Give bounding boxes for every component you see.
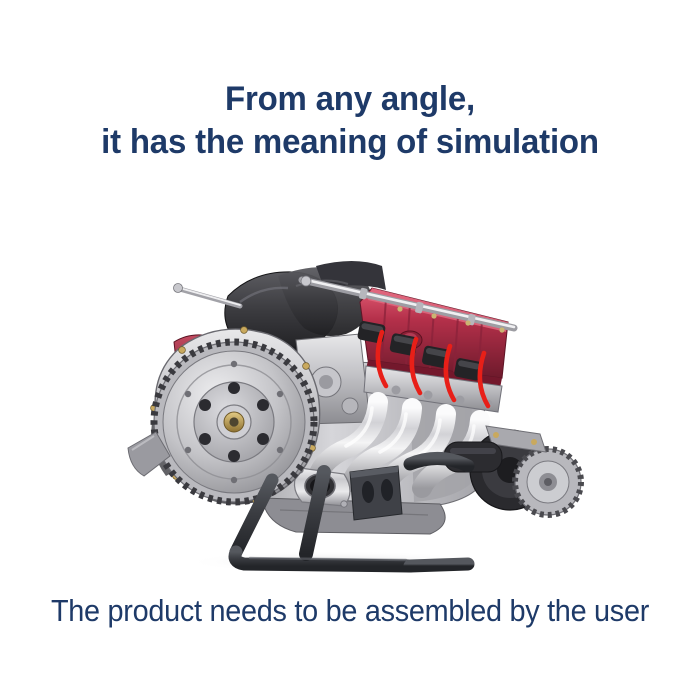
page-title: From any angle, it has the meaning of si… bbox=[11, 78, 690, 164]
flywheel bbox=[154, 342, 314, 502]
product-promo-image: From any angle, it has the meaning of si… bbox=[0, 0, 700, 700]
footer-caption: The product needs to be assembled by the… bbox=[25, 592, 676, 630]
headline-line-2: it has the meaning of simulation bbox=[11, 121, 690, 164]
headline-line-1: From any angle, bbox=[11, 78, 690, 121]
v8-engine-illustration bbox=[110, 236, 590, 586]
product-image bbox=[110, 236, 590, 586]
